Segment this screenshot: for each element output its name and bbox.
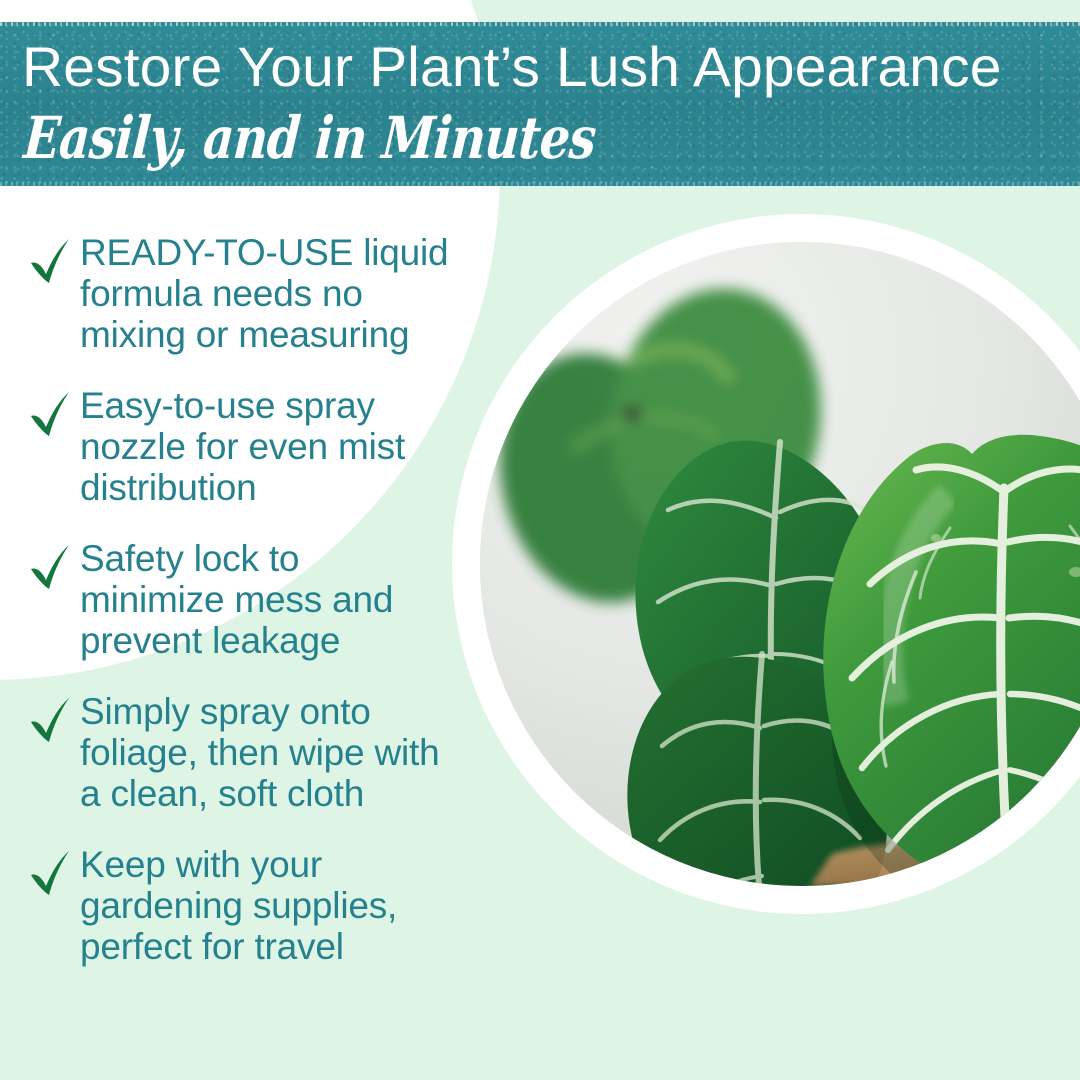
headline-primary: Restore Your Plant’s Lush Appearance [22, 34, 1002, 99]
list-item: Keep with your gardening supplies, perfe… [26, 844, 546, 967]
plant-photo-illustration [480, 242, 1080, 886]
check-icon [26, 848, 74, 900]
list-item: Safety lock to minimize mess and prevent… [26, 538, 546, 661]
feature-list: READY-TO-USE liquid formula needs no mix… [26, 232, 546, 967]
list-item: Simply spray onto foliage, then wipe wit… [26, 691, 546, 814]
check-icon [26, 542, 74, 594]
infographic-page: Restore Your Plant’s Lush Appearance Eas… [0, 0, 1080, 1080]
list-item-label: Easy-to-use spray nozzle for even mist d… [80, 385, 405, 508]
list-item-label: READY-TO-USE liquid formula needs no mix… [80, 232, 448, 355]
headline-script: Easily, and in Minutes [22, 104, 598, 172]
list-item-label: Keep with your gardening supplies, perfe… [80, 844, 397, 967]
list-item-label: Safety lock to minimize mess and prevent… [80, 538, 393, 661]
check-icon [26, 695, 74, 747]
anthurium-plant-photo [480, 242, 1080, 886]
check-icon [26, 236, 74, 288]
list-item: Easy-to-use spray nozzle for even mist d… [26, 385, 546, 508]
check-icon [26, 389, 74, 441]
header-banner: Restore Your Plant’s Lush Appearance Eas… [0, 22, 1080, 186]
list-item-label: Simply spray onto foliage, then wipe wit… [80, 691, 439, 814]
list-item: READY-TO-USE liquid formula needs no mix… [26, 232, 546, 355]
